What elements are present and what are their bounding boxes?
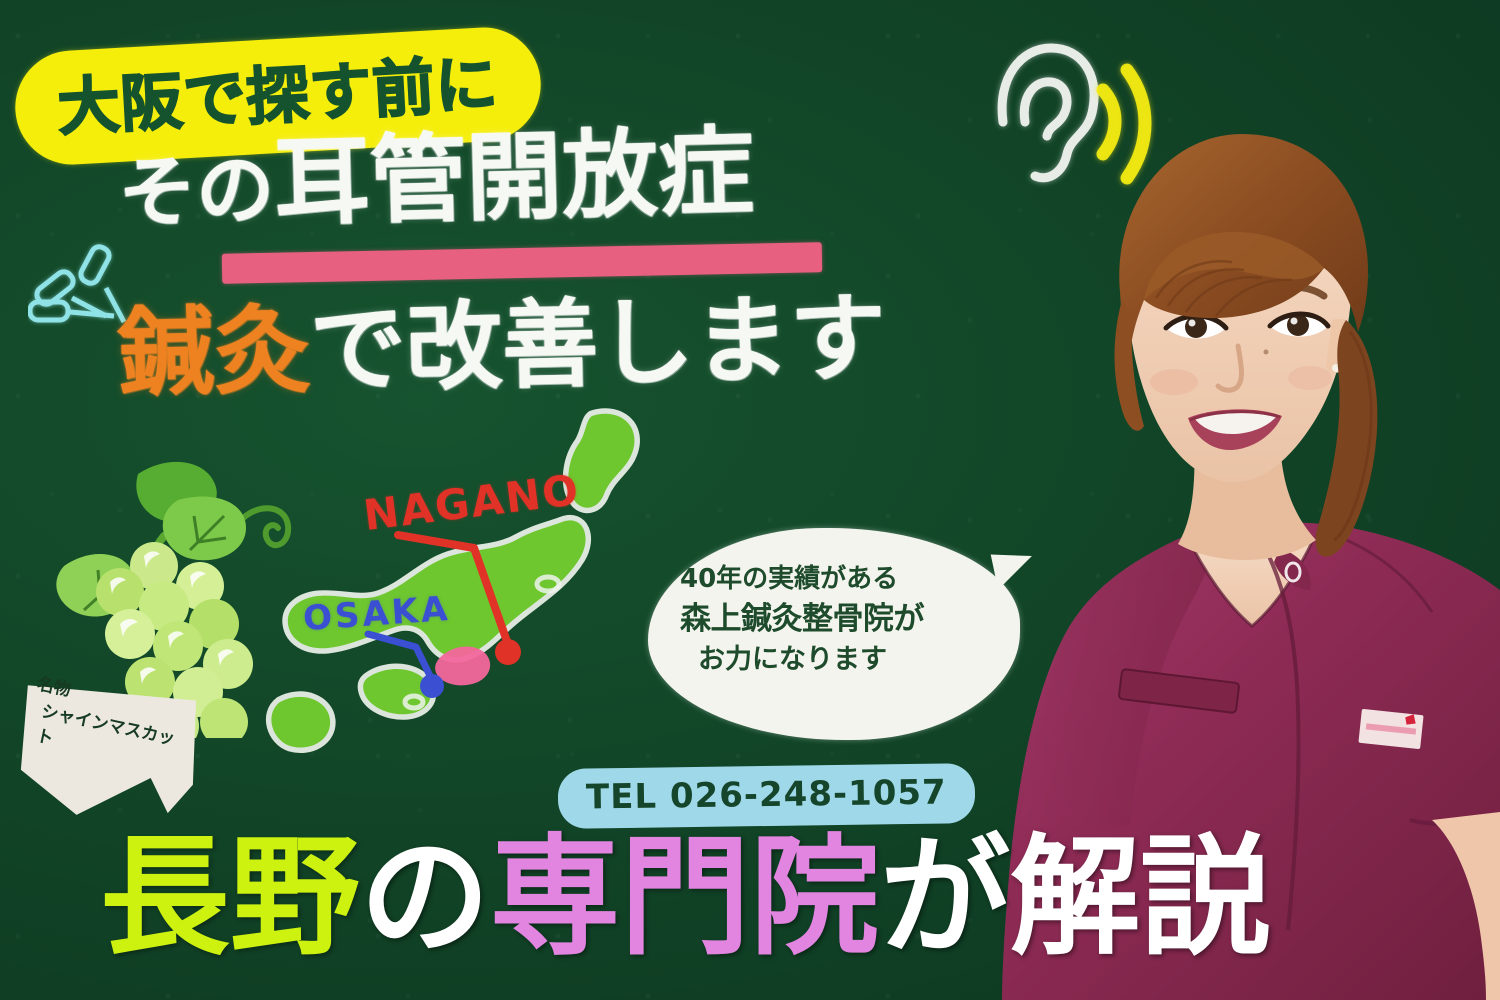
bubble-line-2: 森上鍼灸整骨院が <box>680 598 994 641</box>
bottom-part-explains: が解説 <box>880 820 1270 973</box>
sleeve-brand-patch <box>1358 709 1423 749</box>
headline-prefix: その <box>117 145 275 239</box>
bottom-part-nagano: 長野 <box>100 820 360 973</box>
ribbon-line-1: 名物 <box>35 674 72 701</box>
headline-suffix: で改善します <box>309 282 887 406</box>
speech-bubble-text: 40年の実績がある 森上鍼灸整骨院が お力になります <box>680 562 994 678</box>
banner-canvas: 大阪で探す前に その耳管開放症 鍼灸で改善します <box>0 0 1500 1000</box>
headline-keyword-acupuncture: 鍼灸 <box>117 294 311 410</box>
pink-underline <box>222 242 822 284</box>
headline-line-2: 鍼灸で改善します <box>117 290 887 402</box>
bottom-part-no: の <box>360 820 490 973</box>
bottom-part-specialist: 専門院 <box>490 820 880 973</box>
headline-line-1: その耳管開放症 <box>117 117 1019 235</box>
bubble-line-3: お力になります <box>698 641 994 678</box>
main-headline: その耳管開放症 鍼灸で改善します <box>118 128 1018 224</box>
specialty-ribbon: 名物 シャインマスカット <box>16 672 206 822</box>
bottom-headline: 長野の専門院が解説 <box>100 832 1270 962</box>
bubble-line-1: 40年の実績がある <box>680 562 994 598</box>
speech-bubble: 40年の実績がある 森上鍼灸整骨院が お力になります <box>648 528 1020 740</box>
map-landmass <box>271 414 634 748</box>
telephone-badge[interactable]: TEL 026-248-1057 <box>560 765 973 827</box>
headline-keyword: 耳管開放症 <box>273 115 756 239</box>
